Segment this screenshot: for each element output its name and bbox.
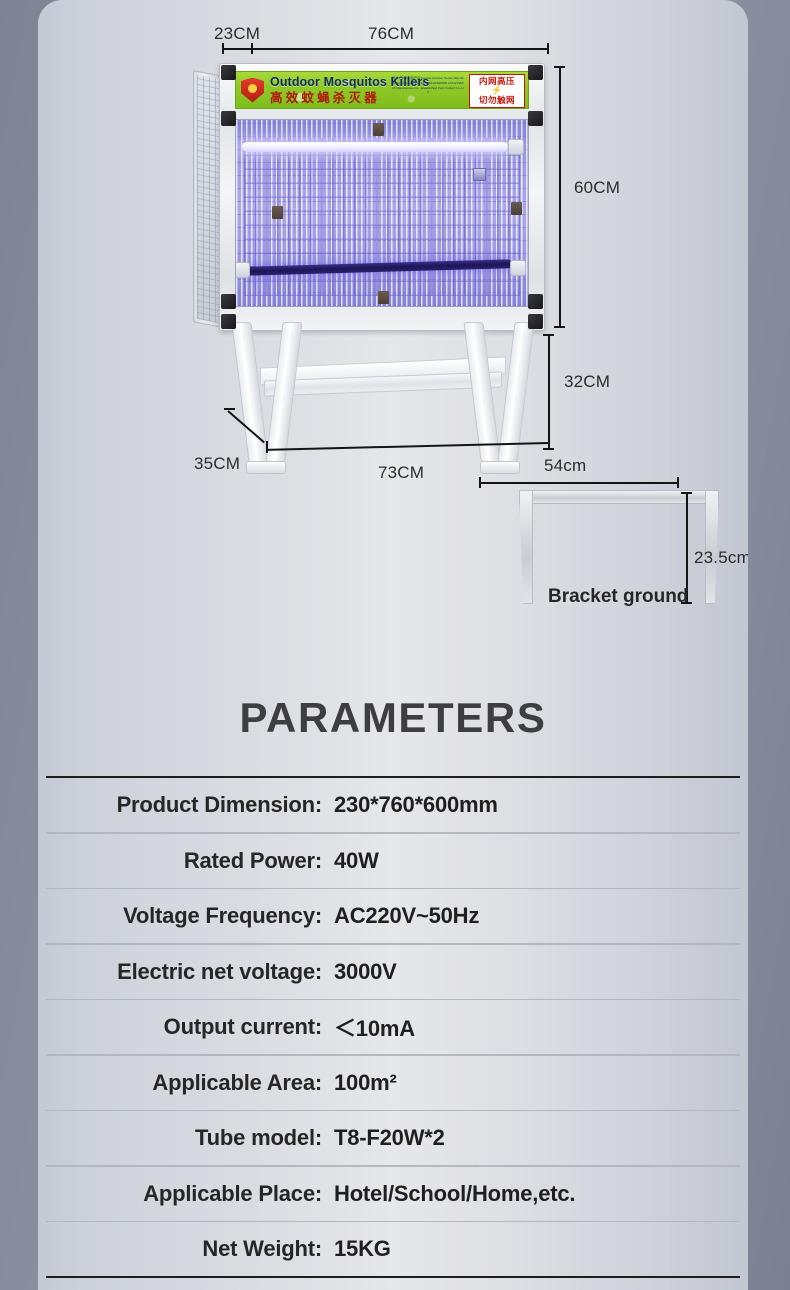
- spec-value: 15KG: [328, 1236, 740, 1262]
- stand-foot-left: [246, 461, 286, 474]
- uv-grid-cavity: [235, 119, 529, 307]
- dim-label-width-base: 73CM: [378, 463, 424, 483]
- dim-line-depth-top: [222, 48, 252, 50]
- stand-leg-inner-right: [463, 322, 500, 462]
- spec-label: Applicable Area:: [46, 1070, 328, 1096]
- spec-value: 100m²: [328, 1070, 740, 1096]
- corner-cap-mid-left: [221, 111, 236, 126]
- dim-tick-height-unit-top: [554, 66, 565, 68]
- bracket-ground-caption: Bracket ground: [548, 586, 688, 608]
- high-voltage-module: [473, 168, 486, 181]
- dim-tick-bracket-height-top: [681, 492, 692, 494]
- grid-clip-bottom: [378, 291, 389, 304]
- corner-cap-bottom-left: [221, 314, 236, 329]
- spec-label: Tube model:: [46, 1125, 328, 1151]
- uv-tube-top: [242, 142, 508, 152]
- dim-label-bracket-width: 54cm: [544, 456, 586, 476]
- warning-line-2: 切勿触网: [479, 96, 515, 105]
- dim-label-height-unit: 60CM: [574, 178, 620, 198]
- parameters-heading: PARAMETERS: [38, 694, 748, 742]
- table-row: Applicable Area: 100m²: [46, 1056, 740, 1110]
- dim-line-height-unit: [559, 66, 561, 328]
- table-row: Electric net voltage: 3000V: [46, 945, 740, 999]
- dim-label-width-top: 76CM: [368, 24, 414, 44]
- spec-value: AC220V~50Hz: [328, 903, 740, 929]
- dim-label-depth-top: 23CM: [214, 24, 260, 44]
- high-voltage-warning: 内网高压 ⚡ 切勿触网: [469, 74, 525, 108]
- spec-label: Rated Power:: [46, 848, 328, 874]
- grid-clip-right: [511, 202, 522, 215]
- dim-tick-depth-base-top: [224, 408, 235, 410]
- mosquito-killer-unit: Outdoor Mosquitos Killers 高效蚊蝇杀灭器 惠州市户外系…: [219, 63, 545, 331]
- table-bottom-rule: [46, 1276, 740, 1278]
- table-row: Rated Power: 40W: [46, 834, 740, 888]
- dim-tick-bracket-right: [677, 477, 679, 488]
- dim-label-height-stand: 32CM: [564, 372, 610, 392]
- table-row: Product Dimension: 230*760*600mm: [46, 778, 740, 832]
- dim-label-depth-base: 35CM: [194, 454, 240, 474]
- label-fineprint: 惠州市户外系列产品 Special Outdoor Series http://…: [392, 76, 464, 95]
- corner-cap-top-left: [221, 65, 236, 80]
- bracket-right-bar: [705, 490, 719, 604]
- corner-cap-low-left: [221, 294, 236, 309]
- table-row: Applicable Place: Hotel/School/Home,etc.: [46, 1167, 740, 1221]
- dim-tick-depth-top-left: [222, 43, 224, 54]
- grid-clip-left: [272, 206, 283, 219]
- spec-label: Net Weight:: [46, 1236, 328, 1262]
- spec-value: 3000V: [328, 959, 740, 985]
- dim-line-bracket-width: [479, 482, 679, 484]
- dim-line-width-top: [251, 48, 549, 50]
- spec-value: 40W: [328, 848, 740, 874]
- spec-value: 230*760*600mm: [328, 792, 740, 818]
- stand-foot-right: [480, 461, 520, 474]
- bracket-left-bar: [519, 490, 533, 604]
- spec-value: Hotel/School/Home,etc.: [328, 1181, 740, 1207]
- specification-table: Product Dimension: 230*760*600mm Rated P…: [46, 776, 740, 1278]
- dim-label-bracket-height: 23.5cm: [694, 548, 748, 568]
- table-row: Voltage Frequency: AC220V~50Hz: [46, 889, 740, 943]
- tube-cap-top-right: [508, 139, 524, 155]
- dim-tick-width-base-left: [266, 441, 268, 453]
- dim-tick-height-stand-top: [543, 334, 554, 336]
- table-row: Net Weight: 15KG: [46, 1222, 740, 1276]
- side-mesh: [197, 75, 219, 323]
- dim-tick-height-stand-bottom: [543, 448, 554, 450]
- corner-cap-top-right: [528, 65, 543, 80]
- dim-line-height-stand: [548, 334, 550, 450]
- dim-tick-bracket-left: [479, 477, 481, 488]
- table-row: Tube model: T8-F20W*2: [46, 1111, 740, 1165]
- spec-label: Product Dimension:: [46, 792, 328, 818]
- grid-clip-top: [373, 123, 384, 136]
- spec-label: Electric net voltage:: [46, 959, 328, 985]
- spec-label: Output current:: [46, 1014, 328, 1040]
- stand-leg-outer-right: [497, 322, 534, 462]
- brand-badge-icon: [241, 78, 264, 103]
- tube-cap-bottom-right: [510, 260, 526, 276]
- dim-tick-width-top-right: [547, 43, 549, 54]
- product-label-bar: Outdoor Mosquitos Killers 高效蚊蝇杀灭器 惠州市户外系…: [235, 71, 529, 109]
- spec-label: Applicable Place:: [46, 1181, 328, 1207]
- product-detail-panel: 23CM 76CM Outdoor Mosquitos Killers 高效蚊蝇…: [38, 0, 748, 1290]
- corner-cap-low-right: [528, 294, 543, 309]
- spec-value: ＜10mA: [328, 1011, 740, 1043]
- spec-value: T8-F20W*2: [328, 1125, 740, 1151]
- product-dimension-diagram: 23CM 76CM Outdoor Mosquitos Killers 高效蚊蝇…: [38, 0, 748, 670]
- corner-cap-mid-right: [528, 111, 543, 126]
- spec-label: Voltage Frequency:: [46, 903, 328, 929]
- table-row: Output current: ＜10mA: [46, 1000, 740, 1054]
- corner-cap-bottom-right: [528, 314, 543, 329]
- tube-cap-bottom-left: [235, 262, 250, 278]
